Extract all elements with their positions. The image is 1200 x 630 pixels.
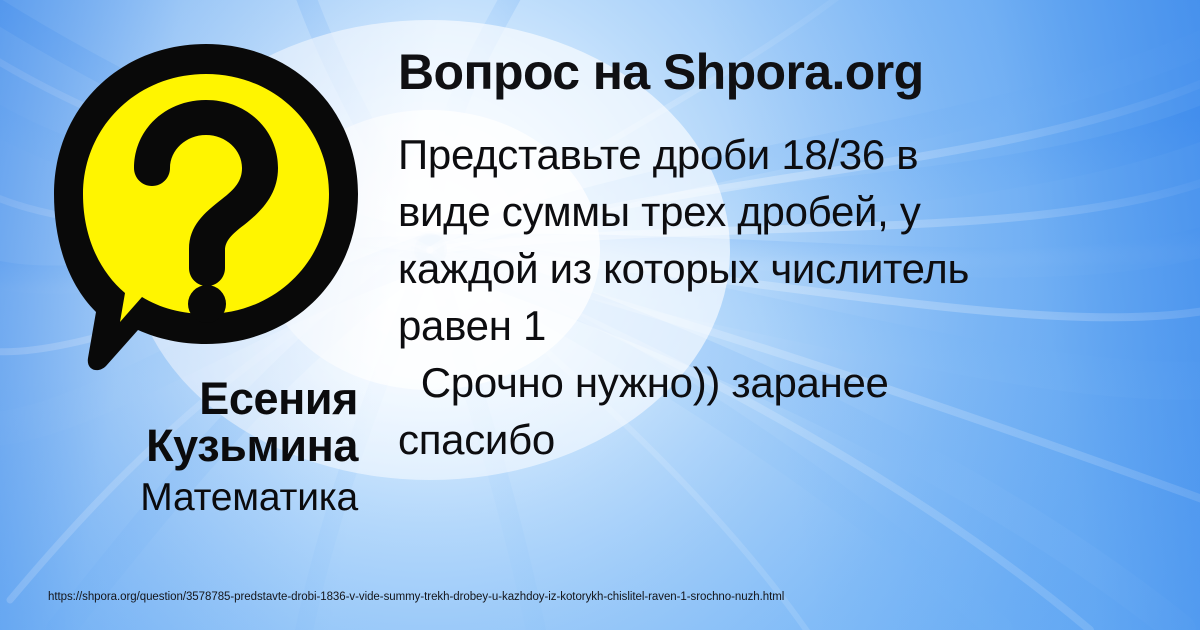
card-content: Есения Кузьмина Математика Вопрос на Shp… [0,0,1200,630]
author-block: Есения Кузьмина Математика [0,376,374,519]
author-subject: Математика [0,478,358,519]
question-line-5: Срочно нужно)) заранее [398,354,1188,411]
question-line-6: спасибо [398,411,1188,468]
shpora-question-card: Есения Кузьмина Математика Вопрос на Shp… [0,0,1200,630]
source-url[interactable]: https://shpora.org/question/3578785-pred… [48,591,784,603]
question-text: Представьте дроби 18/36 в виде суммы тре… [398,126,1188,469]
right-column: Вопрос на Shpora.org Представьте дроби 1… [398,46,1188,468]
question-speech-bubble-icon [46,36,366,371]
question-line-1: Представьте дроби 18/36 в [398,126,1188,183]
question-mark-bubble-svg [46,36,366,371]
page-title: Вопрос на Shpora.org [398,46,1188,99]
question-line-4: равен 1 [398,297,1188,354]
question-line-2: виде суммы трех дробей, у [398,183,1188,240]
author-name: Есения Кузьмина [0,376,358,470]
question-line-3: каждой из которых числитель [398,240,1188,297]
left-column: Есения Кузьмина Математика [0,0,390,580]
